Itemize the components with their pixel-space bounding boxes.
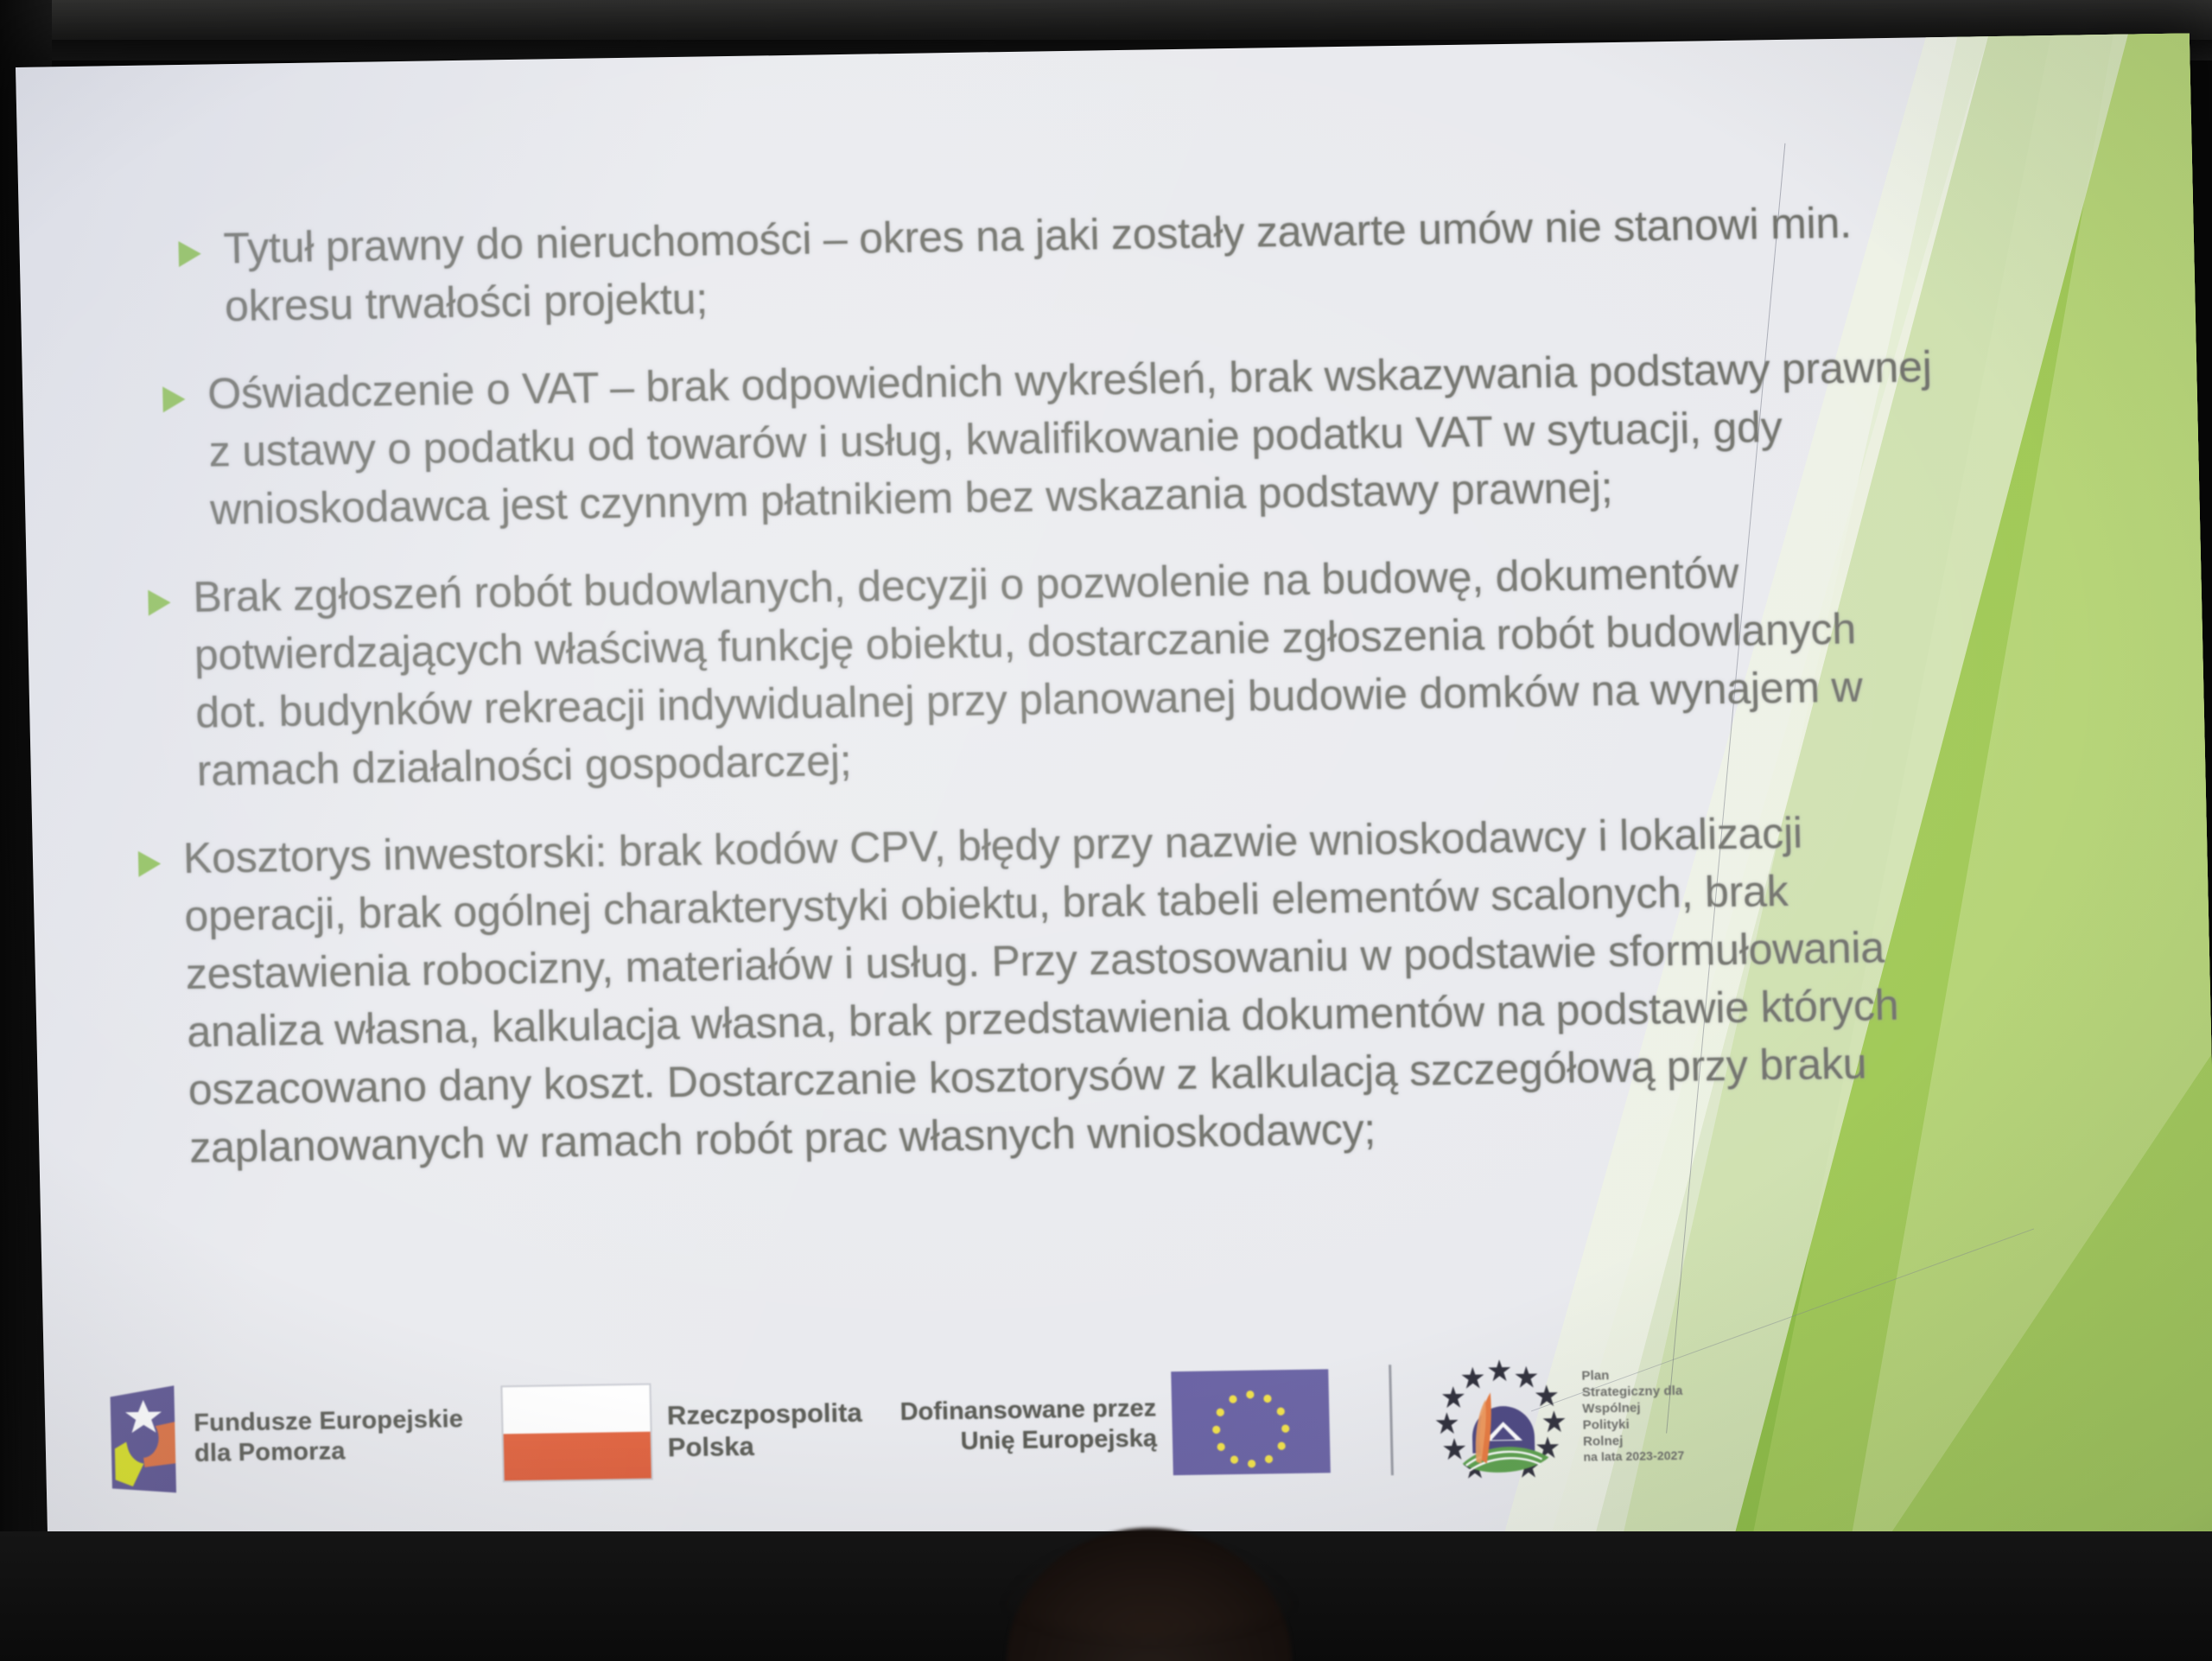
- bullet-item: Tytuł prawny do nieruchomości – okres na…: [176, 193, 1931, 336]
- room-photo: Tytuł prawny do nieruchomości – okres na…: [0, 0, 2212, 1661]
- ps-line-6: na lata 2023-2027: [1583, 1448, 1684, 1465]
- bullet-text: Brak zgłoszeń robót budowlanych, decyzji…: [193, 541, 1942, 800]
- eu-flag-icon: [1171, 1369, 1331, 1475]
- bullet-text: Oświadczenie o VAT – brak odpowiednich w…: [207, 338, 1935, 538]
- bullet-item: Oświadczenie o VAT – brak odpowiednich w…: [161, 338, 1935, 539]
- footer-logo-bar: Fundusze Europejskie dla Pomorza Rzeczpo…: [105, 1333, 1992, 1518]
- ps-line-3: Wspólnej: [1582, 1400, 1683, 1418]
- fe-line-2: dla Pomorza: [194, 1435, 465, 1469]
- pl-line-2: Polska: [667, 1429, 862, 1464]
- bullet-text: Kosztorys inwestorski: brak kodów CPV, b…: [182, 802, 1949, 1177]
- wall-top-strip: [0, 0, 2212, 40]
- ps-line-5: Rolnej: [1583, 1432, 1684, 1450]
- pl-line-1: Rzeczpospolita: [667, 1397, 862, 1432]
- fundusze-europejskie-star-icon: [105, 1384, 181, 1495]
- logo-fundusze-europejskie: Fundusze Europejskie dla Pomorza: [105, 1379, 465, 1495]
- plan-strategiczny-label: Plan Strategiczny dla Wspólnej Polityki …: [1581, 1367, 1684, 1466]
- eu-line-1: Dofinansowane przez: [899, 1393, 1156, 1428]
- eu-line-2: Unię Europejską: [900, 1423, 1157, 1458]
- unia-label: Dofinansowane przez Unię Europejską: [899, 1393, 1157, 1458]
- ps-line-4: Polityki: [1582, 1416, 1683, 1434]
- logo-plan-strategiczny: Plan Strategiczny dla Wspólnej Polityki …: [1426, 1352, 1685, 1484]
- fe-line-1: Fundusze Europejskie: [194, 1404, 464, 1439]
- bullet-item: Kosztorys inwestorski: brak kodów CPV, b…: [136, 802, 1949, 1178]
- poland-flag-icon: [500, 1384, 652, 1483]
- projection-screen: Tytuł prawny do nieruchomości – okres na…: [16, 33, 2212, 1622]
- fundusze-europejskie-label: Fundusze Europejskie dla Pomorza: [194, 1404, 464, 1470]
- triangle-right-marker-icon: [137, 849, 177, 879]
- plan-strategiczny-farm-icon: [1426, 1353, 1575, 1484]
- logo-rzeczpospolita-polska: Rzeczpospolita Polska: [500, 1380, 863, 1483]
- audience-head-silhouette: [1007, 1528, 1292, 1661]
- polska-label: Rzeczpospolita Polska: [667, 1397, 863, 1464]
- triangle-right-marker-icon: [146, 588, 187, 618]
- slide-bullet-list: Tytuł prawny do nieruchomości – okres na…: [123, 193, 1950, 1207]
- triangle-right-marker-icon: [176, 239, 217, 269]
- triangle-right-marker-icon: [161, 385, 201, 415]
- logo-unia-europejska: Dofinansowane przez Unię Europejską: [899, 1369, 1331, 1480]
- ps-line-1: Plan: [1581, 1367, 1682, 1385]
- ps-line-2: Strategiczny dla: [1582, 1384, 1683, 1402]
- bullet-text: Tytuł prawny do nieruchomości – okres na…: [223, 193, 1931, 335]
- footer-divider: [1389, 1365, 1394, 1475]
- bullet-item: Brak zgłoszeń robót budowlanych, decyzji…: [146, 541, 1942, 800]
